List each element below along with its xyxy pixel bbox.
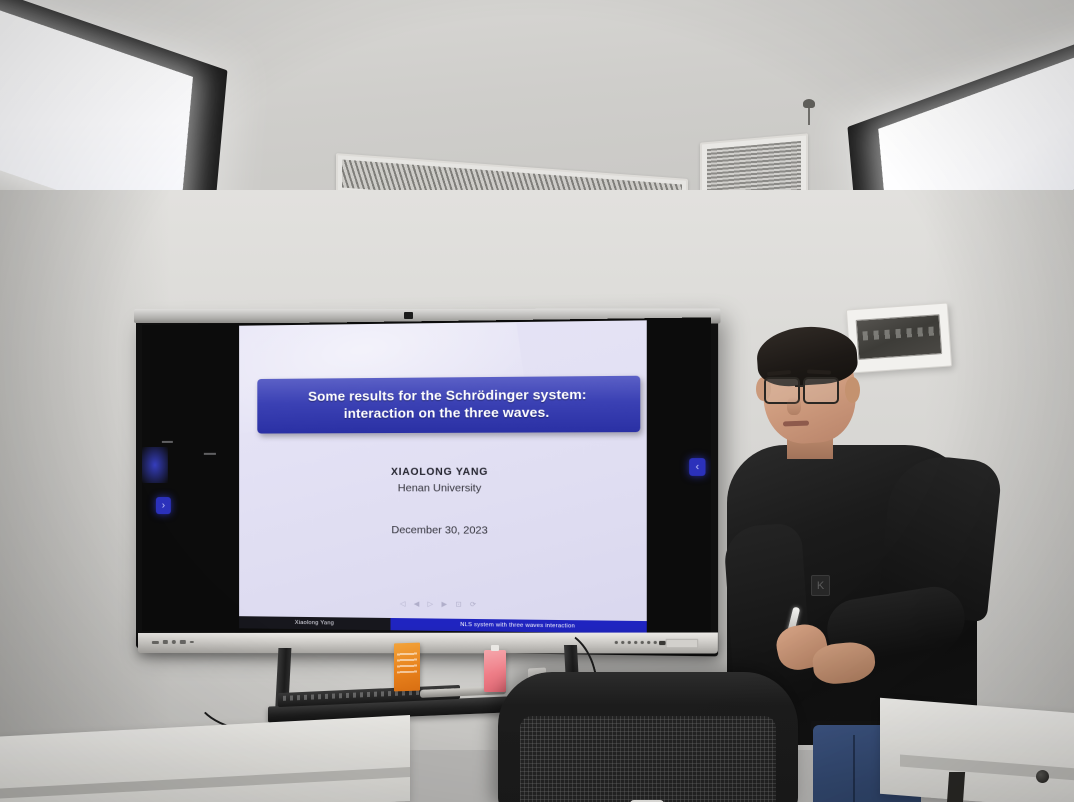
button-home[interactable]: [647, 641, 650, 644]
screen-speck: [162, 441, 173, 443]
chair-mesh-panel: [520, 716, 776, 802]
conference-room-presentation-photo: › ‹ Some results for the Schrödinger sys…: [0, 0, 1074, 802]
button-source[interactable]: [621, 641, 624, 644]
smartboard-bottom-bezel: [138, 632, 718, 653]
port-lan[interactable]: [180, 640, 186, 644]
glasses-bridge: [795, 385, 804, 387]
table-cable-grommet[interactable]: [1036, 770, 1049, 783]
glasses-lens-right: [803, 377, 839, 404]
screen-speck: [204, 453, 216, 455]
button-volume-up[interactable]: [634, 641, 637, 644]
smartboard-screen[interactable]: › ‹ Some results for the Schrödinger sys…: [142, 317, 711, 638]
presenter-ear-right: [845, 377, 860, 403]
sprinkler-deflector: [803, 99, 815, 108]
slide-footline: Xiaolong Yang NLS system with three wave…: [239, 616, 647, 633]
button-volume-down[interactable]: [628, 641, 631, 644]
camera-icon: [404, 312, 413, 319]
port-usb[interactable]: [152, 640, 159, 643]
port-audio[interactable]: [172, 640, 176, 644]
bezel-control-buttons[interactable]: [615, 641, 657, 644]
orange-box[interactable]: [394, 643, 420, 692]
conference-table-right: [880, 698, 1074, 802]
slide-title-line-2: interaction on the three waves.: [263, 403, 633, 423]
port-extra[interactable]: [190, 641, 194, 643]
footline-title: NLS system with three waves interaction: [391, 618, 647, 634]
sprinkler-stem: [808, 105, 810, 125]
presenter-mouth: [783, 421, 809, 427]
slide-affiliation: Henan University: [239, 482, 647, 495]
slide-date: December 30, 2023: [239, 523, 647, 537]
slide-title-line-1: Some results for the Schrödinger system:: [263, 385, 633, 405]
screen-nav-next-icon[interactable]: ›: [156, 497, 171, 514]
office-chair[interactable]: ▼: [498, 672, 798, 802]
screen-glow: [142, 447, 168, 483]
presentation-slide: Some results for the Schrödinger system:…: [239, 320, 647, 633]
jeans-seam: [853, 735, 855, 802]
footline-author: Xiaolong Yang: [239, 616, 391, 630]
button-menu[interactable]: [615, 641, 618, 644]
bezel-port-group[interactable]: [152, 640, 194, 644]
interactive-smartboard[interactable]: › ‹ Some results for the Schrödinger sys…: [136, 318, 694, 648]
brand-logo: [666, 639, 699, 648]
slide-author: XIAOLONG YANG: [239, 467, 647, 478]
sweater-chest-logo: K: [811, 575, 830, 596]
button-power[interactable]: [641, 641, 644, 644]
fire-sprinkler-head: [803, 99, 815, 125]
presenter-nose: [787, 397, 801, 415]
conference-table-right-leg: [947, 772, 965, 802]
beamer-navigation-symbols[interactable]: ◁ ◀ ▷ ▶ ⊡ ⟳: [239, 598, 647, 611]
button-back[interactable]: [654, 641, 657, 644]
port-hdmi[interactable]: [163, 640, 168, 644]
screen-nav-prev-icon[interactable]: ‹: [689, 458, 705, 476]
slide-title-block: Some results for the Schrödinger system:…: [257, 376, 640, 434]
